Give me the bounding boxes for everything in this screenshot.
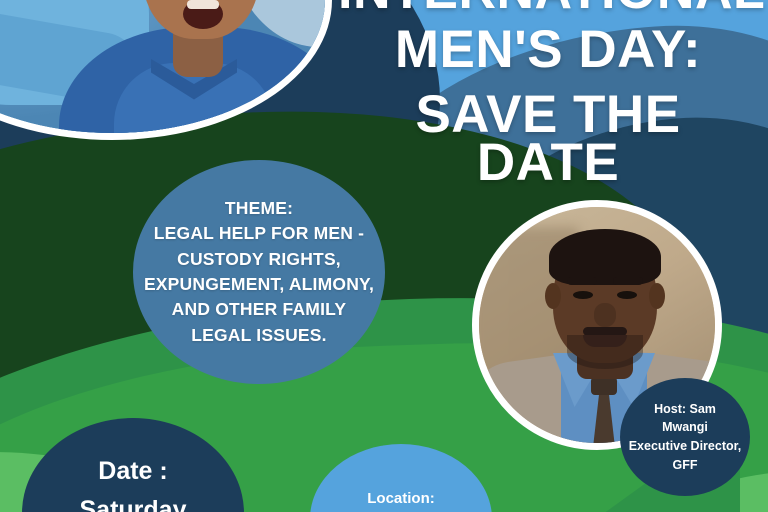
host-info-text: Host: Sam Mwangi Executive Director, GFF <box>623 400 748 475</box>
host-photo-eye-right <box>617 291 637 299</box>
theme-circle: THEME: LEGAL HELP FOR MEN - CUSTODY RIGH… <box>133 160 385 384</box>
title-line-international: INTERNATIONAL <box>338 0 758 16</box>
host-info-circle: Host: Sam Mwangi Executive Director, GFF <box>620 378 750 496</box>
host-photo-ear-left <box>545 283 561 309</box>
host-photo-tie-knot <box>591 377 617 395</box>
host-photo-eye-left <box>573 291 593 299</box>
host-photo-brow-right <box>613 277 643 285</box>
theme-circle-text: THEME: LEGAL HELP FOR MEN - CUSTODY RIGH… <box>134 196 384 348</box>
location-circle-text: Location: Brooklyn Park Community Center <box>328 488 474 512</box>
group-photo <box>0 0 332 140</box>
host-photo-hair <box>549 229 661 285</box>
poster-title: INTERNATIONAL MEN'S DAY: SAVE THE DATE <box>338 0 758 188</box>
event-poster: INTERNATIONAL MEN'S DAY: SAVE THE DATE T… <box>0 0 768 512</box>
host-photo-ear-right <box>649 283 665 309</box>
title-line-mens-day: MEN'S DAY: <box>338 26 758 75</box>
group-photo-man-b-teeth <box>187 0 219 9</box>
host-photo-brow-left <box>567 277 597 285</box>
host-photo-mouth <box>583 335 627 347</box>
title-line-save-the-date: SAVE THE DATE <box>338 91 758 189</box>
host-photo-nose <box>594 303 616 327</box>
date-circle-text: Date : Saturday 11/19/2022 Ti <box>49 452 217 512</box>
